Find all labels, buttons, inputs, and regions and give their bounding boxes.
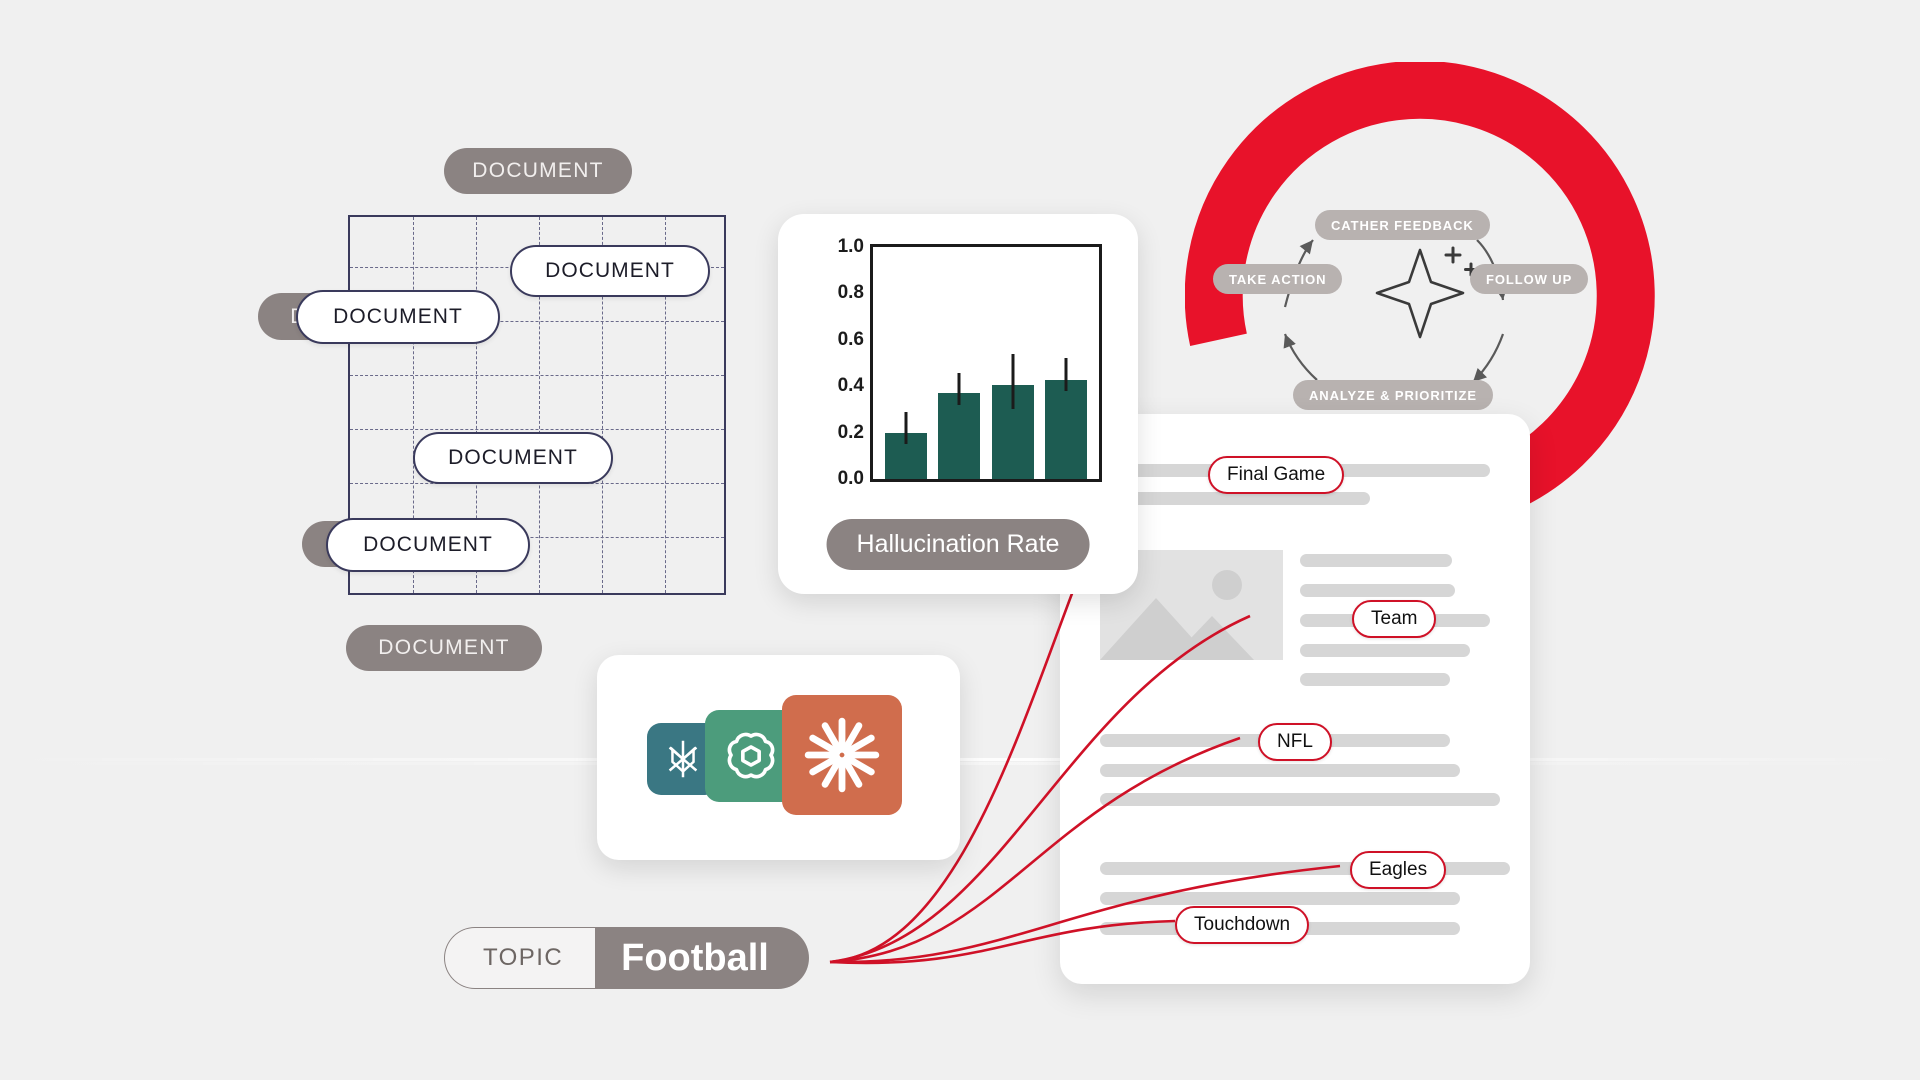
annotation-tag-eagles[interactable]: Eagles xyxy=(1350,851,1446,889)
topic-chip-label: TOPIC xyxy=(444,927,595,989)
document-pill-label: DOCUMENT xyxy=(333,305,463,329)
y-tick: 0.0 xyxy=(838,468,864,490)
annotation-tag-nfl[interactable]: NFL xyxy=(1258,723,1332,761)
document-pill[interactable]: DOCUMENT xyxy=(296,290,500,344)
text-line xyxy=(1100,862,1510,875)
y-tick: 0.4 xyxy=(838,375,864,397)
loop-step-label: TAKE ACTION xyxy=(1229,272,1326,287)
y-tick: 1.0 xyxy=(838,236,864,258)
chart-caption: Hallucination Rate xyxy=(827,519,1090,570)
document-pill[interactable]: DOCUMENT xyxy=(444,148,632,194)
loop-step-take-action[interactable]: TAKE ACTION xyxy=(1213,264,1342,294)
loop-step-gather-feedback[interactable]: CATHER FEEDBACK xyxy=(1315,210,1490,240)
text-line xyxy=(1100,764,1460,777)
loop-step-label: ANALYZE & PRIORITIZE xyxy=(1309,388,1477,403)
bar-group xyxy=(992,247,1034,479)
annotation-tag-final-game[interactable]: Final Game xyxy=(1208,456,1344,494)
chart-plot-area: 1.0 0.8 0.6 0.4 0.2 0.0 xyxy=(816,244,1106,504)
loop-step-label: CATHER FEEDBACK xyxy=(1331,218,1474,233)
y-tick: 0.2 xyxy=(838,422,864,444)
text-line xyxy=(1100,793,1500,806)
loop-step-label: FOLLOW UP xyxy=(1486,272,1572,287)
bar-group xyxy=(885,247,927,479)
annotation-tag-label: Touchdown xyxy=(1194,914,1290,936)
ai-models-card[interactable] xyxy=(597,655,960,860)
topic-chip-value: Football xyxy=(595,927,809,989)
loop-step-follow-up[interactable]: FOLLOW UP xyxy=(1470,264,1588,294)
chart-plot-frame xyxy=(870,244,1102,482)
topic-chip[interactable]: TOPIC Football xyxy=(444,927,809,989)
chart-bars xyxy=(873,247,1099,479)
text-line xyxy=(1100,892,1460,905)
document-pill-label: DOCUMENT xyxy=(378,636,509,660)
text-line xyxy=(1300,584,1455,597)
document-pill[interactable]: DOCUMENT xyxy=(510,245,710,297)
annotation-tag-label: NFL xyxy=(1277,731,1313,753)
document-pill-label: DOCUMENT xyxy=(472,159,603,183)
hallucination-rate-chart-card[interactable]: 1.0 0.8 0.6 0.4 0.2 0.0 xyxy=(778,214,1138,594)
document-pill[interactable]: DOCUMENT xyxy=(346,625,542,671)
document-pill-label: DOCUMENT xyxy=(363,533,493,557)
sparkle-icon xyxy=(1377,250,1463,337)
annotation-tag-label: Team xyxy=(1371,608,1417,630)
annotation-tag-label: Final Game xyxy=(1227,464,1325,486)
bar-group xyxy=(938,247,980,479)
bar-group xyxy=(1045,247,1087,479)
annotation-tag-team[interactable]: Team xyxy=(1352,600,1436,638)
canvas: CATHER FEEDBACK FOLLOW UP ANALYZE & PRIO… xyxy=(0,0,1920,1080)
text-line xyxy=(1300,644,1470,657)
text-line xyxy=(1300,554,1452,567)
loop-step-analyze-prioritize[interactable]: ANALYZE & PRIORITIZE xyxy=(1293,380,1493,410)
y-tick: 0.8 xyxy=(838,282,864,304)
y-tick: 0.6 xyxy=(838,329,864,351)
document-pill-label: DOCUMENT xyxy=(545,259,675,283)
document-pill[interactable]: DOCUMENT xyxy=(413,432,613,484)
document-pill-label: DOCUMENT xyxy=(448,446,578,470)
annotation-tag-label: Eagles xyxy=(1369,859,1427,881)
y-axis-tick-labels: 1.0 0.8 0.6 0.4 0.2 0.0 xyxy=(816,244,864,482)
document-pill[interactable]: DOCUMENT xyxy=(326,518,530,572)
claude-logo[interactable] xyxy=(782,695,902,815)
annotation-tag-touchdown[interactable]: Touchdown xyxy=(1175,906,1309,944)
background-streak xyxy=(0,758,1920,761)
background-streak-2 xyxy=(0,762,1920,765)
text-line xyxy=(1300,673,1450,686)
